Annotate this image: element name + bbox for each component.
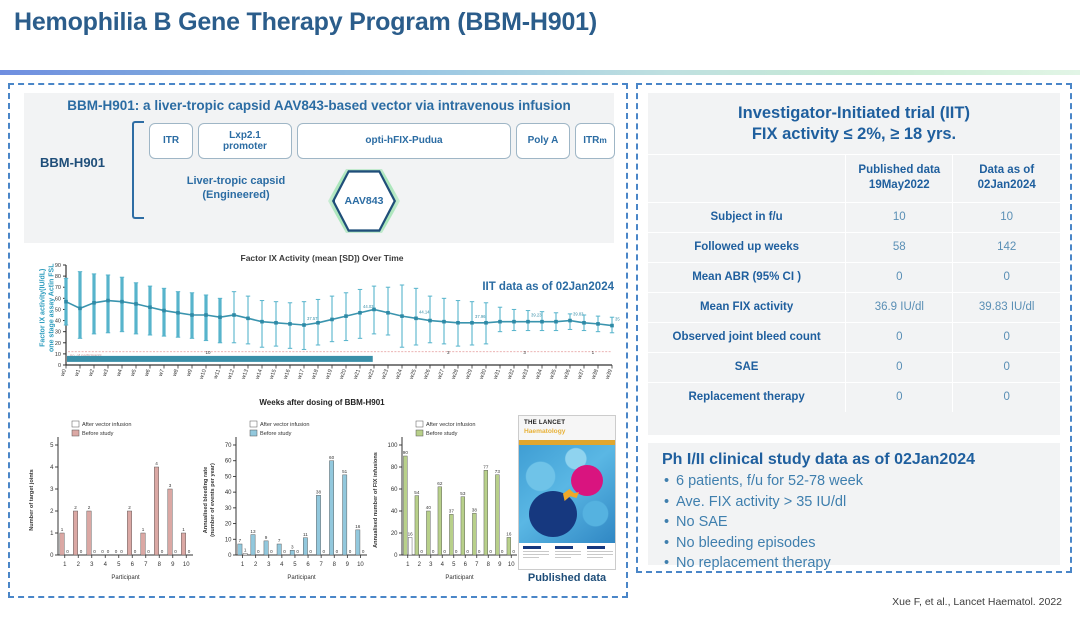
svg-text:90: 90 [403, 450, 409, 455]
iit-cell-published: 0 [846, 322, 953, 352]
svg-text:10: 10 [55, 352, 61, 358]
svg-text:9: 9 [265, 535, 268, 540]
iit-cell-current: 142 [953, 232, 1060, 262]
svg-text:1: 1 [244, 548, 247, 553]
svg-text:5: 5 [117, 562, 121, 568]
svg-text:11: 11 [303, 532, 308, 537]
construct-diagram: BBM-H901: a liver-tropic capsid AAV843-b… [24, 93, 614, 243]
svg-text:0: 0 [296, 549, 299, 554]
svg-text:w25: w25 [408, 369, 417, 381]
iit-cell-current: 0 [953, 382, 1060, 412]
lancet-haematology-cover: THE LANCET Haematology [518, 415, 616, 570]
table-row: Observed joint bleed count00 [648, 322, 1060, 352]
svg-text:37.57: 37.57 [307, 316, 318, 321]
svg-text:7: 7 [475, 562, 479, 568]
svg-text:w36: w36 [562, 369, 571, 381]
svg-text:44.03: 44.03 [363, 304, 374, 309]
svg-text:Before study: Before study [260, 431, 292, 437]
cover-masthead: THE LANCET Haematology [519, 416, 616, 440]
svg-text:w17: w17 [296, 369, 305, 381]
svg-text:w0: w0 [59, 369, 67, 379]
table-row: SAE00 [648, 352, 1060, 382]
iit-title-line2: FIX activity ≤ 2%, ≥ 18 yrs. [752, 125, 956, 143]
svg-text:53: 53 [460, 491, 466, 496]
svg-text:0: 0 [489, 549, 492, 554]
list-item: Ave. FIX activity > 35 IU/dl [662, 492, 1046, 513]
svg-text:4: 4 [155, 461, 158, 466]
svg-text:6: 6 [306, 562, 310, 568]
svg-text:2: 2 [418, 562, 422, 568]
svg-text:w10: w10 [198, 369, 207, 381]
svg-text:0: 0 [443, 549, 446, 554]
svg-text:6: 6 [464, 562, 468, 568]
svg-text:After vector infusion: After vector infusion [82, 422, 131, 428]
svg-text:5: 5 [293, 562, 297, 568]
svg-text:0: 0 [270, 549, 273, 554]
cover-footer-col-2 [555, 546, 581, 560]
svg-text:0: 0 [362, 549, 365, 554]
svg-text:0: 0 [336, 549, 339, 554]
svg-text:60: 60 [329, 455, 335, 460]
table-row: Followed up weeks58142 [648, 232, 1060, 262]
svg-text:35.50: 35.50 [615, 317, 620, 322]
cover-title-lancet: THE LANCET [524, 419, 565, 426]
svg-text:54: 54 [414, 490, 420, 495]
svg-text:1: 1 [592, 350, 595, 355]
svg-text:1: 1 [241, 562, 245, 568]
svg-text:20: 20 [55, 341, 61, 347]
svg-text:10: 10 [183, 562, 190, 568]
svg-text:90: 90 [55, 263, 61, 269]
svg-text:Participant: Participant [445, 575, 474, 581]
svg-text:w9: w9 [185, 369, 193, 379]
iit-cell-published: 0 [846, 352, 953, 382]
svg-text:w1: w1 [73, 369, 81, 379]
svg-text:100: 100 [387, 443, 398, 449]
svg-text:50: 50 [225, 474, 232, 480]
svg-text:w23: w23 [380, 369, 389, 381]
svg-text:0: 0 [501, 549, 504, 554]
svg-text:0: 0 [455, 549, 458, 554]
svg-text:w15: w15 [268, 369, 277, 381]
svg-text:4: 4 [280, 562, 284, 568]
svg-text:7: 7 [319, 562, 323, 568]
header-gradient-rule [0, 70, 1080, 75]
svg-text:40: 40 [391, 509, 398, 515]
capsid-caption: Liver-tropic capsid(Engineered) [156, 175, 316, 203]
iit-cell-current: 39.83 IU/dl [953, 292, 1060, 322]
svg-text:Annualised bleeding rate: Annualised bleeding rate [203, 467, 209, 534]
svg-text:37: 37 [449, 509, 455, 514]
svg-text:0: 0 [257, 549, 260, 554]
svg-text:70: 70 [55, 285, 61, 291]
svg-text:w11: w11 [213, 369, 222, 381]
svg-text:1: 1 [182, 527, 185, 532]
svg-text:40: 40 [225, 490, 232, 496]
page-title: Hemophilia B Gene Therapy Program (BBM-H… [14, 8, 597, 37]
phase-study-title: Ph I/II clinical study data as of 02Jan2… [662, 451, 1046, 469]
svg-text:50: 50 [55, 307, 61, 313]
iit-row-label: Mean ABR (95% CI ) [648, 262, 846, 292]
svg-text:7: 7 [144, 562, 148, 568]
aav843-label: AAV843 [324, 195, 404, 207]
svg-text:2: 2 [128, 505, 131, 510]
cover-footer-text [519, 543, 616, 570]
svg-text:0: 0 [115, 549, 118, 554]
svg-text:7: 7 [278, 538, 281, 543]
line-chart-svg: 0102030405060708090w0w1w2w3w4w5w6w7w8w9w… [24, 261, 620, 393]
svg-text:0: 0 [66, 549, 69, 554]
svg-text:10: 10 [205, 350, 211, 355]
cover-footer-col-3 [587, 546, 613, 560]
iit-table: Published data 19May2022 Data as of 02Ja… [648, 154, 1060, 412]
svg-text:6: 6 [131, 562, 135, 568]
svg-text:0: 0 [120, 549, 123, 554]
table-row: Subject in f/u1010 [648, 202, 1060, 232]
svg-text:w3: w3 [101, 369, 109, 379]
svg-text:w16: w16 [282, 369, 291, 381]
svg-text:0: 0 [93, 549, 96, 554]
svg-text:w12: w12 [226, 369, 235, 381]
list-item: No SAE [662, 512, 1046, 533]
list-item: No bleeding episodes [662, 533, 1046, 554]
svg-text:w13: w13 [240, 369, 249, 381]
svg-text:70: 70 [225, 443, 232, 449]
svg-text:w8: w8 [171, 369, 179, 379]
svg-text:Before study: Before study [82, 431, 114, 437]
table-row: Mean FIX activity36.9 IU/dl39.83 IU/dl [648, 292, 1060, 322]
iit-table-head: Published data 19May2022 Data as of 02Ja… [648, 154, 1060, 202]
iit-row-label: Subject in f/u [648, 202, 846, 232]
svg-text:16: 16 [506, 532, 512, 537]
svg-text:0: 0 [309, 549, 312, 554]
iit-title-line1: Investigator-Initiated trial (IIT) [738, 104, 970, 122]
svg-text:16: 16 [408, 532, 414, 537]
svg-text:62: 62 [437, 481, 443, 486]
svg-text:0: 0 [432, 549, 435, 554]
phase-study-card: Ph I/II clinical study data as of 02Jan2… [648, 443, 1060, 565]
cover-footer-col-1 [523, 546, 549, 560]
svg-text:0: 0 [394, 553, 398, 559]
gene-element-opti-hfix-pudua: opti-hFIX-Pudua [297, 123, 511, 159]
svg-text:8: 8 [158, 562, 162, 568]
svg-text:3: 3 [50, 487, 54, 493]
gene-element-itr: ITR [149, 123, 193, 159]
svg-text:80: 80 [55, 274, 61, 280]
gene-element-itrm: ITRm [575, 123, 615, 159]
cover-magenta-circle [571, 465, 603, 496]
svg-text:w31: w31 [492, 369, 501, 381]
svg-text:w5: w5 [129, 369, 137, 379]
iit-row-label: Mean FIX activity [648, 292, 846, 322]
iit-cell-current: 0 [953, 352, 1060, 382]
svg-text:0: 0 [188, 549, 191, 554]
svg-text:w21: w21 [352, 369, 361, 381]
svg-text:8: 8 [487, 562, 491, 568]
bar2-svg: 0102030405060707111302903704305110638076… [198, 415, 373, 590]
svg-text:w33: w33 [520, 369, 529, 381]
iit-row-label: Replacement therapy [648, 382, 846, 412]
iit-row-label: Observed joint bleed count [648, 322, 846, 352]
svg-text:w18: w18 [310, 369, 319, 381]
svg-text:After vector infusion: After vector infusion [260, 422, 309, 428]
svg-text:51: 51 [342, 469, 348, 474]
list-item: 6 patients, f/u for 52-78 week [662, 471, 1046, 492]
svg-text:20: 20 [225, 522, 232, 528]
svg-text:3: 3 [169, 483, 172, 488]
gene-element-lxp21-promoter: Lxp2.1promoter [198, 123, 292, 159]
svg-text:20: 20 [391, 531, 398, 537]
phase-study-bullet-list: 6 patients, f/u for 52-78 weekAve. FIX a… [662, 471, 1046, 574]
gene-element-poly-a: Poly A [516, 123, 570, 159]
bar-chart-annualised-bleeding-rate: 0102030405060707111302903704305110638076… [198, 415, 373, 590]
svg-text:60: 60 [391, 487, 398, 493]
svg-text:0: 0 [228, 553, 232, 559]
citation-text: Xue F, et al., Lancet Haematol. 2022 [0, 596, 1072, 608]
svg-text:Participant: Participant [287, 575, 316, 581]
svg-text:8: 8 [333, 562, 337, 568]
svg-text:30: 30 [55, 330, 61, 336]
svg-text:2: 2 [77, 562, 81, 568]
svg-text:w39: w39 [604, 369, 613, 381]
svg-text:3: 3 [523, 350, 526, 355]
svg-text:w4: w4 [115, 369, 123, 379]
svg-text:16: 16 [355, 524, 361, 529]
svg-text:0: 0 [147, 549, 150, 554]
iit-cell-published: 0 [846, 382, 953, 412]
svg-text:13: 13 [250, 529, 256, 534]
iit-header-current-l2: 02Jan2024 [978, 179, 1036, 191]
svg-text:w27: w27 [436, 369, 445, 381]
svg-text:w24: w24 [394, 369, 403, 381]
iit-title: Investigator-Initiated trial (IIT) FIX a… [648, 93, 1060, 154]
svg-text:1: 1 [61, 527, 64, 532]
svg-text:0: 0 [174, 549, 177, 554]
iit-trial-card: Investigator-Initiated trial (IIT) FIX a… [648, 93, 1060, 435]
svg-text:39.83: 39.83 [573, 312, 584, 317]
bar1-svg: 0123451012022030040052061074083091010Par… [24, 415, 199, 590]
svg-text:4: 4 [104, 562, 108, 568]
published-data-caption: Published data [515, 572, 619, 584]
svg-text:38: 38 [316, 489, 322, 494]
svg-text:0: 0 [161, 549, 164, 554]
svg-text:1: 1 [63, 562, 67, 568]
svg-text:0: 0 [80, 549, 83, 554]
construct-name-label: BBM-H901 [40, 155, 105, 170]
svg-text:39.23: 39.23 [531, 313, 542, 318]
svg-text:0: 0 [107, 549, 110, 554]
svg-text:w20: w20 [338, 369, 347, 381]
svg-text:0: 0 [420, 549, 423, 554]
svg-text:5: 5 [452, 562, 456, 568]
svg-text:44.14: 44.14 [419, 309, 430, 314]
iit-header-blank [648, 154, 846, 202]
svg-text:4: 4 [50, 465, 54, 471]
svg-text:77: 77 [483, 465, 489, 470]
cover-dark-blue-circle [529, 491, 577, 537]
table-row: Mean ABR (95% CI )00 [648, 262, 1060, 292]
svg-text:w30: w30 [478, 369, 487, 381]
svg-text:0: 0 [58, 363, 61, 369]
svg-text:w22: w22 [366, 369, 375, 381]
svg-text:60: 60 [225, 459, 232, 465]
svg-text:0: 0 [323, 549, 326, 554]
iit-cell-current: 0 [953, 322, 1060, 352]
svg-text:2: 2 [254, 562, 258, 568]
journal-cover-thumbnail: THE LANCET Haematology Publ [515, 415, 619, 590]
svg-text:3: 3 [447, 350, 450, 355]
iit-header-row: Published data 19May2022 Data as of 02Ja… [648, 154, 1060, 202]
svg-text:w37: w37 [576, 369, 585, 381]
svg-text:10: 10 [357, 562, 364, 568]
svg-text:0: 0 [466, 549, 469, 554]
svg-text:2: 2 [74, 505, 77, 510]
aav843-capsid-hexagon: AAV843 [324, 165, 404, 237]
svg-text:3: 3 [429, 562, 433, 568]
svg-text:9: 9 [171, 562, 175, 568]
iit-cell-published: 58 [846, 232, 953, 262]
svg-text:w32: w32 [506, 369, 515, 381]
line-chart-x-axis-label: Weeks after dosing of BBM-H901 [24, 398, 620, 407]
svg-text:0: 0 [50, 553, 54, 559]
svg-text:Annualised number of FIX infus: Annualised number of FIX infusions [373, 452, 379, 548]
bar3-svg: 0204060801009016154024003620437055306380… [368, 415, 523, 590]
svg-text:40: 40 [55, 319, 61, 325]
bar-chart-target-joints: 0123451012022030040052061074083091010Par… [24, 415, 199, 590]
svg-text:After vector infusion: After vector infusion [426, 422, 475, 428]
svg-text:80: 80 [391, 465, 398, 471]
svg-text:1: 1 [406, 562, 410, 568]
svg-text:w34: w34 [534, 369, 543, 381]
svg-text:(number of events per year): (number of events per year) [210, 463, 216, 537]
svg-text:3: 3 [291, 544, 294, 549]
svg-text:1: 1 [50, 531, 54, 537]
cover-artwork [519, 445, 616, 543]
svg-text:0: 0 [283, 549, 286, 554]
svg-text:Number of target joints: Number of target joints [29, 469, 35, 531]
svg-text:0: 0 [478, 549, 481, 554]
iit-table-body: Subject in f/u1010Followed up weeks58142… [648, 202, 1060, 412]
svg-text:Before study: Before study [426, 431, 458, 437]
iit-cell-published: 0 [846, 262, 953, 292]
svg-text:2: 2 [88, 505, 91, 510]
iit-cell-current: 10 [953, 202, 1060, 232]
svg-text:w7: w7 [157, 369, 165, 379]
svg-text:w19: w19 [324, 369, 333, 381]
svg-text:9: 9 [498, 562, 502, 568]
svg-text:1: 1 [142, 527, 145, 532]
iit-row-label: Followed up weeks [648, 232, 846, 262]
svg-text:0: 0 [349, 549, 352, 554]
svg-text:9: 9 [346, 562, 350, 568]
left-panel: BBM-H901: a liver-tropic capsid AAV843-b… [8, 83, 628, 598]
svg-text:3: 3 [267, 562, 271, 568]
svg-text:w6: w6 [143, 369, 151, 379]
svg-text:Participant: Participant [111, 575, 140, 581]
svg-text:5: 5 [50, 443, 54, 449]
svg-text:w26: w26 [422, 369, 431, 381]
iit-cell-published: 10 [846, 202, 953, 232]
svg-text:w35: w35 [548, 369, 557, 381]
iit-header-current: Data as of 02Jan2024 [953, 154, 1060, 202]
table-row: Replacement therapy00 [648, 382, 1060, 412]
svg-text:10: 10 [225, 537, 232, 543]
svg-text:w38: w38 [590, 369, 599, 381]
iit-row-label: SAE [648, 352, 846, 382]
svg-text:0: 0 [101, 549, 104, 554]
cover-title-haematology: Haematology [524, 428, 565, 435]
svg-text:4: 4 [441, 562, 445, 568]
iit-cell-published: 36.9 IU/dl [846, 292, 953, 322]
svg-text:3: 3 [90, 562, 94, 568]
svg-text:38: 38 [472, 507, 478, 512]
bracket-decoration [132, 121, 144, 219]
svg-text:w28: w28 [450, 369, 459, 381]
svg-text:7: 7 [239, 538, 242, 543]
svg-text:37.96: 37.96 [475, 314, 486, 319]
svg-text:w2: w2 [87, 369, 95, 379]
list-item: No replacement therapy [662, 553, 1046, 574]
construct-banner-title: BBM-H901: a liver-tropic capsid AAV843-b… [24, 98, 614, 113]
svg-text:w14: w14 [254, 369, 263, 381]
svg-text:0: 0 [134, 549, 137, 554]
iit-header-current-l1: Data as of [979, 164, 1034, 176]
right-panel: Investigator-Initiated trial (IIT) FIX a… [636, 83, 1072, 573]
svg-text:2: 2 [50, 509, 54, 515]
iit-header-published-l1: Published data [858, 164, 940, 176]
iit-header-published: Published data 19May2022 [846, 154, 953, 202]
svg-text:40: 40 [426, 505, 432, 510]
svg-text:30: 30 [225, 506, 232, 512]
factor-ix-line-chart: Factor IX Activity (mean [SD]) Over Time… [24, 253, 620, 405]
bar-chart-annualised-fix-infusions: 0204060801009016154024003620437055306380… [368, 415, 518, 590]
svg-text:60: 60 [55, 296, 61, 302]
iit-cell-current: 0 [953, 262, 1060, 292]
iit-header-published-l2: 19May2022 [869, 179, 930, 191]
svg-text:73: 73 [495, 469, 501, 474]
svg-text:w29: w29 [464, 369, 473, 381]
